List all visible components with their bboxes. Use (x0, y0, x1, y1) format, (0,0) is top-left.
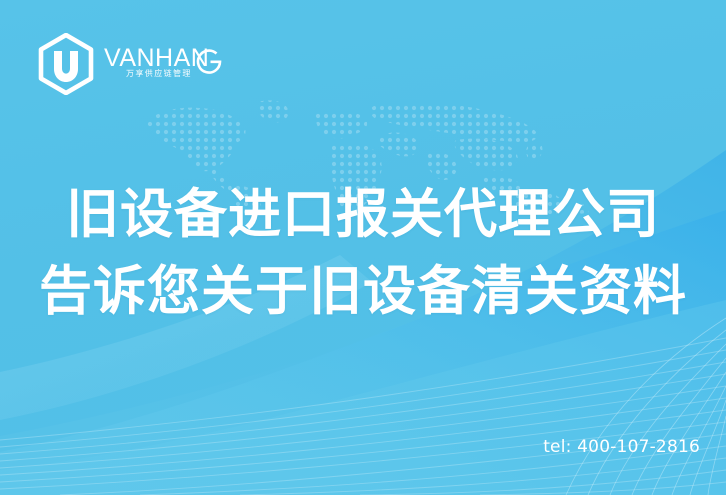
logo-g-letter-icon (192, 44, 226, 78)
headline-line-2: 告诉您关于旧设备清关资料 (0, 253, 726, 330)
headline-line-1: 旧设备进口报关代理公司 (0, 176, 726, 253)
promo-banner: VANHAN 万享供应链管理 旧设备进口报关代理公司 告诉您关于旧设备清关资料 … (0, 0, 726, 495)
brand-logo[interactable]: VANHAN 万享供应链管理 (37, 33, 222, 95)
logo-subtitle: 万享供应链管理 (126, 70, 192, 78)
contact-phone[interactable]: tel: 400-107-2816 (543, 437, 700, 457)
vanhang-hexagon-shield-logo (37, 33, 95, 95)
headline-block: 旧设备进口报关代理公司 告诉您关于旧设备清关资料 (0, 176, 726, 330)
logo-wordmark-group: VANHAN 万享供应链管理 (104, 44, 222, 84)
